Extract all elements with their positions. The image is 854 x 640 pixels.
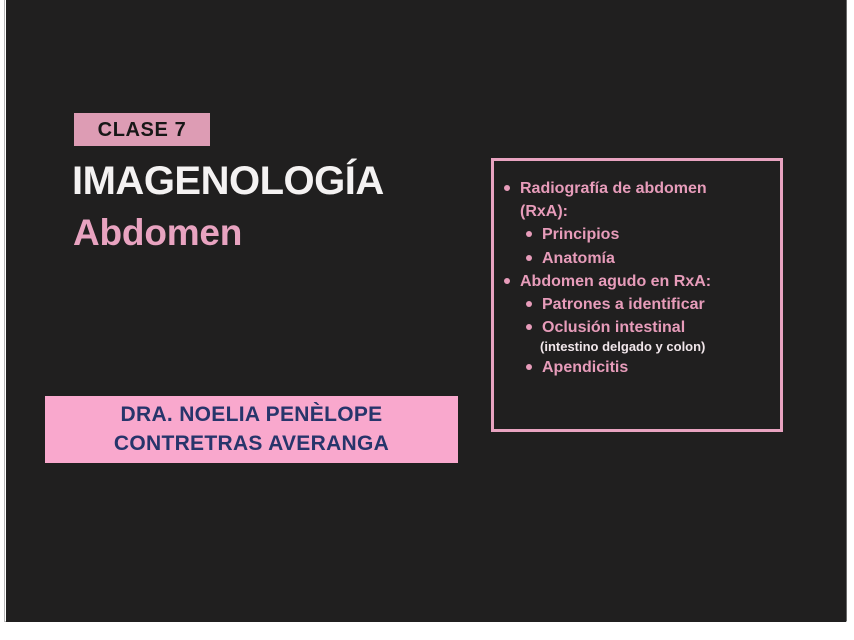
- outline-item: Anatomía: [526, 247, 770, 270]
- outline-item: (RxA):: [504, 200, 770, 223]
- outline-list: Radiografía de abdomen(RxA):PrincipiosAn…: [502, 177, 770, 379]
- outline-item: (intestino delgado y colon): [540, 339, 770, 355]
- page-subtitle: Abdomen: [73, 214, 242, 253]
- outline-item-label: Radiografía de abdomen: [520, 180, 707, 197]
- bullet-dot-icon: [526, 301, 532, 307]
- slide-root: CLASE 7 IMAGENOLOGÍA Abdomen DRA. NOELIA…: [0, 0, 854, 640]
- bullet-dot-icon: [526, 231, 532, 237]
- outline-item: Patrones a identificar: [526, 293, 770, 316]
- presenter-name-box: DRA. NOELIA PENÈLOPE CONTRETRAS AVERANGA: [45, 396, 458, 463]
- outline-item: Principios: [526, 223, 770, 246]
- bullet-dot-icon: [504, 278, 510, 284]
- presenter-name-line-1: DRA. NOELIA PENÈLOPE: [121, 401, 383, 429]
- bullet-dot-icon: [526, 364, 532, 370]
- bullet-dot-icon: [504, 185, 510, 191]
- outline-item: Radiografía de abdomen: [504, 177, 770, 200]
- presenter-name-line-2: CONTRETRAS AVERANGA: [114, 430, 389, 458]
- outline-item-label: Abdomen agudo en RxA:: [520, 273, 711, 290]
- class-number-label: CLASE 7: [98, 120, 187, 140]
- page-title: IMAGENOLOGÍA: [72, 160, 384, 202]
- bullet-dot-icon: [526, 255, 532, 261]
- outline-panel: Radiografía de abdomen(RxA):PrincipiosAn…: [491, 158, 783, 432]
- page-edge-left: [4, 0, 5, 622]
- outline-item: Abdomen agudo en RxA:: [504, 270, 770, 293]
- outline-item-label: (RxA):: [520, 203, 568, 220]
- outline-item: Oclusión intestinal: [526, 316, 770, 339]
- outline-item: Apendicitis: [526, 356, 770, 379]
- outline-item-label: (intestino delgado y colon): [540, 339, 705, 354]
- outline-item-label: Oclusión intestinal: [542, 319, 685, 336]
- outline-item-label: Principios: [542, 226, 619, 243]
- bullet-dot-icon: [526, 324, 532, 330]
- page-edge-right: [846, 0, 847, 622]
- outline-item-label: Anatomía: [542, 250, 615, 267]
- outline-item-label: Apendicitis: [542, 359, 628, 376]
- class-number-badge: CLASE 7: [74, 113, 210, 146]
- outline-item-label: Patrones a identificar: [542, 296, 705, 313]
- slide-canvas: CLASE 7 IMAGENOLOGÍA Abdomen DRA. NOELIA…: [6, 0, 846, 622]
